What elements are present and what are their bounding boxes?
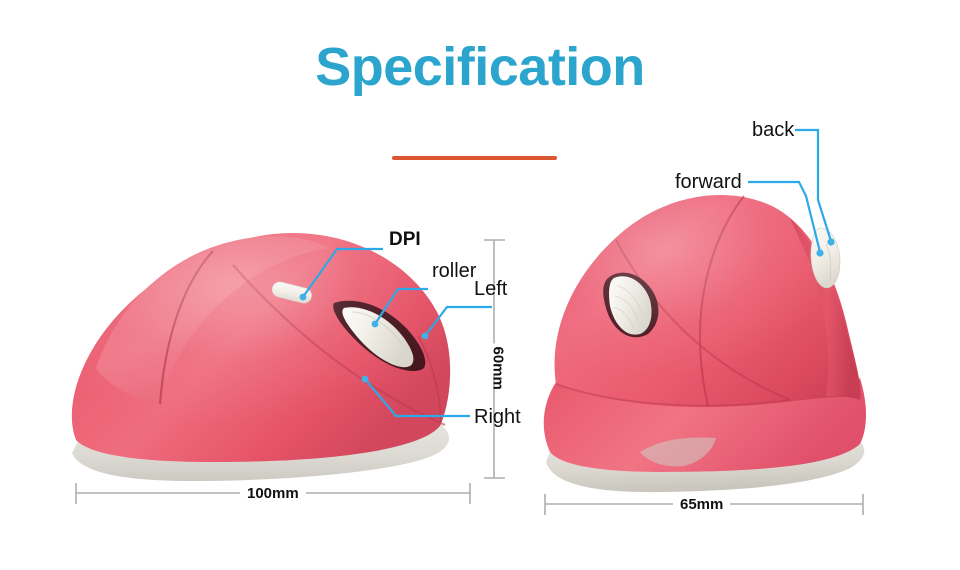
dimension-label-left-height: 60mm: [489, 344, 508, 376]
dimension-label-left-width: 100mm: [240, 485, 306, 502]
callout-label-right: Right: [474, 407, 521, 427]
dimension-label-right-width: 65mm: [673, 496, 730, 513]
callout-label-dpi: DPI: [389, 230, 421, 250]
endpoint-dot-forward: [816, 249, 823, 256]
endpoint-dot-back: [827, 238, 834, 245]
endpoint-dot-right: [362, 376, 369, 383]
callout-label-left: Left: [474, 279, 507, 299]
callout-label-back: back: [752, 120, 794, 140]
endpoint-dot-dpi: [300, 294, 307, 301]
endpoint-dot-left: [422, 333, 429, 340]
callout-label-forward: forward: [675, 172, 742, 192]
left-mouse-sheen: [72, 233, 450, 462]
specification-page: Specification: [0, 0, 960, 570]
callout-label-roller: roller: [432, 261, 476, 281]
endpoint-dot-roller: [372, 321, 379, 328]
left-mouse-illustration: [72, 233, 450, 481]
